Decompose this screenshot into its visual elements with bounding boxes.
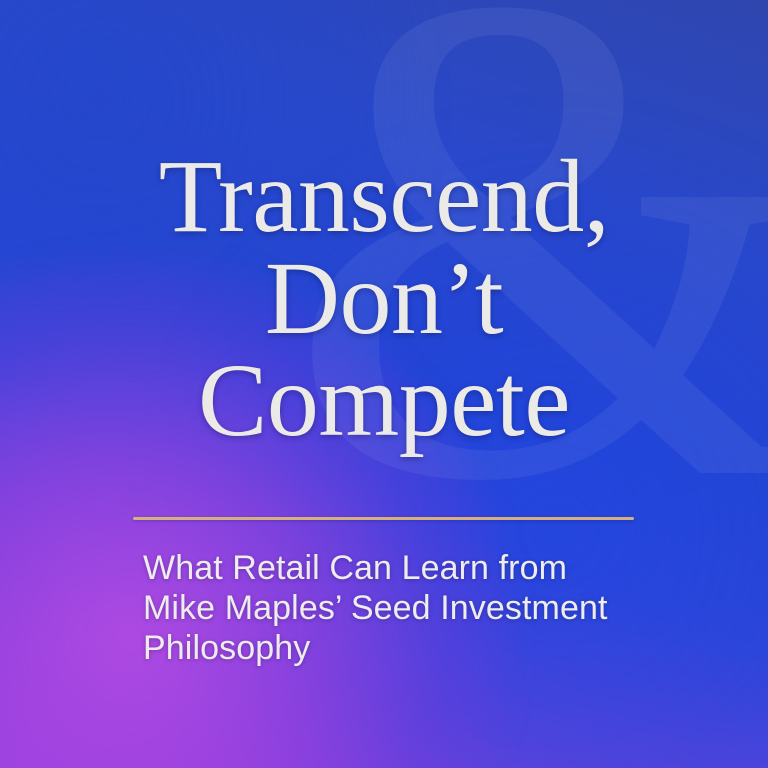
- page-subtitle: What Retail Can Learn from Mike Maples’ …: [143, 548, 663, 668]
- title-line-1: Transcend,: [24, 146, 744, 248]
- subtitle-line-1: What Retail Can Learn from: [143, 548, 663, 588]
- title-subtitle-divider: [133, 517, 634, 520]
- cover-content: Transcend, Don’t Compete What Retail Can…: [0, 0, 768, 768]
- page-title: Transcend, Don’t Compete: [24, 146, 744, 452]
- subtitle-line-3: Philosophy: [143, 628, 663, 668]
- article-cover-card: & Transcend, Don’t Compete What Retail C…: [0, 0, 768, 768]
- title-line-3: Compete: [24, 350, 744, 452]
- subtitle-line-2: Mike Maples’ Seed Investment: [143, 588, 663, 628]
- title-block: Transcend, Don’t Compete: [0, 146, 768, 452]
- title-line-2: Don’t: [24, 248, 744, 350]
- subtitle-block: What Retail Can Learn from Mike Maples’ …: [143, 548, 663, 668]
